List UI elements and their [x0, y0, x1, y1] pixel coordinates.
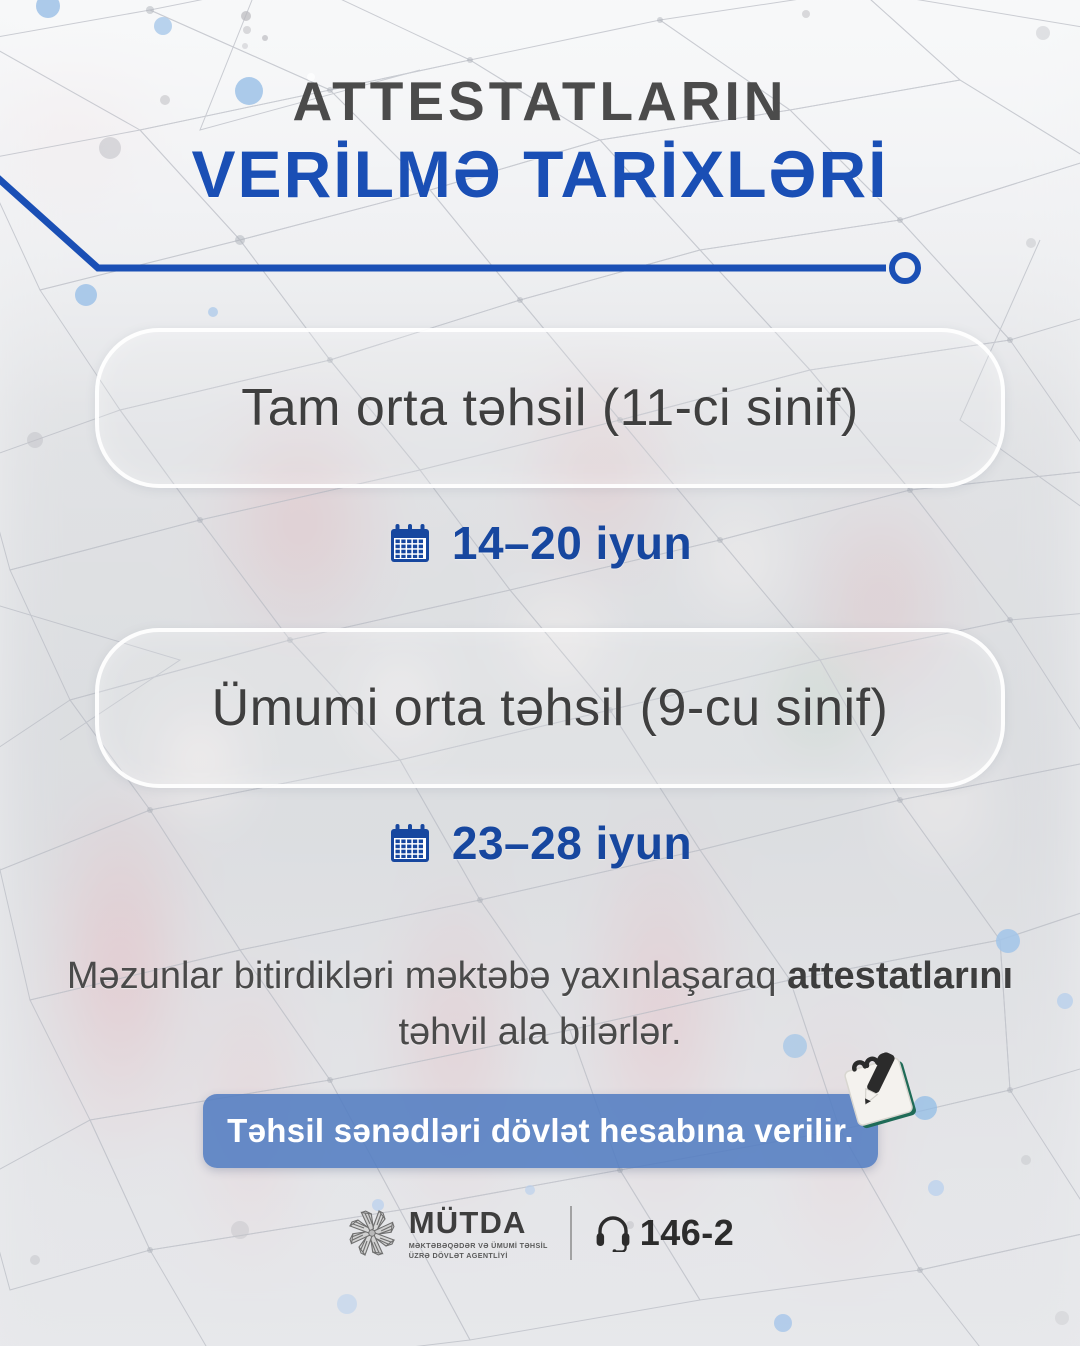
headline-line-one: ATTESTATLARIN: [0, 72, 1080, 130]
brand-text-block: MÜTDA MƏKTƏBƏQƏDƏR VƏ ÜMUMİ TƏHSİL ÜZRƏ …: [409, 1207, 548, 1258]
callout-text: Təhsil sənədləri dövlət hesabına verilir…: [227, 1112, 854, 1150]
paragraph-bold-word: attestatlarını: [787, 955, 1013, 997]
paragraph-segment-1: Məzunlar bitirdikləri məktəbə yaxınlaşar…: [67, 955, 787, 997]
date-row-2: 23–28 iyun: [0, 816, 1080, 870]
hotline-group: 146-2: [594, 1212, 735, 1254]
headset-icon: [594, 1214, 632, 1252]
brand-subtitle-line-1: MƏKTƏBƏQƏDƏR VƏ ÜMUMİ TƏHSİL: [409, 1242, 548, 1249]
date-row-1: 14–20 iyun: [0, 516, 1080, 570]
footer-divider: [570, 1206, 572, 1260]
hotline-number: 146-2: [640, 1212, 735, 1254]
poster-canvas: ATTESTATLARIN VERİLMƏ TARİXLƏRİ Tam orta…: [0, 0, 1080, 1346]
callout-banner: Təhsil sənədləri dövlət hesabına verilir…: [203, 1094, 878, 1168]
mutda-ornament-logo-icon: [346, 1207, 398, 1259]
brand-lockup: MÜTDA MƏKTƏBƏQƏDƏR VƏ ÜMUMİ TƏHSİL ÜZRƏ …: [346, 1207, 548, 1259]
calendar-icon: [388, 821, 432, 865]
education-level-label: Ümumi orta təhsil (9-cu sinif): [212, 678, 889, 738]
calendar-icon: [388, 521, 432, 565]
date-label: 14–20 iyun: [452, 516, 692, 570]
education-level-card-2: Ümumi orta təhsil (9-cu sinif): [95, 628, 1005, 788]
poster-heading-group: ATTESTATLARIN VERİLMƏ TARİXLƏRİ: [0, 72, 1080, 210]
date-label: 23–28 iyun: [452, 816, 692, 870]
education-level-label: Tam orta təhsil (11-ci sinif): [241, 378, 858, 438]
brand-subtitle-line-2: ÜZRƏ DÖVLƏT AGENTLİYİ: [409, 1252, 548, 1259]
notepad-with-pen-icon: [833, 1044, 937, 1140]
paragraph-segment-2: təhvil ala bilərlər.: [398, 1011, 681, 1053]
headline-line-two: VERİLMƏ TARİXLƏRİ: [0, 140, 1080, 210]
footer-bar: MÜTDA MƏKTƏBƏQƏDƏR VƏ ÜMUMİ TƏHSİL ÜZRƏ …: [0, 1206, 1080, 1260]
education-level-card-1: Tam orta təhsil (11-ci sinif): [95, 328, 1005, 488]
brand-name: MÜTDA: [409, 1207, 548, 1238]
